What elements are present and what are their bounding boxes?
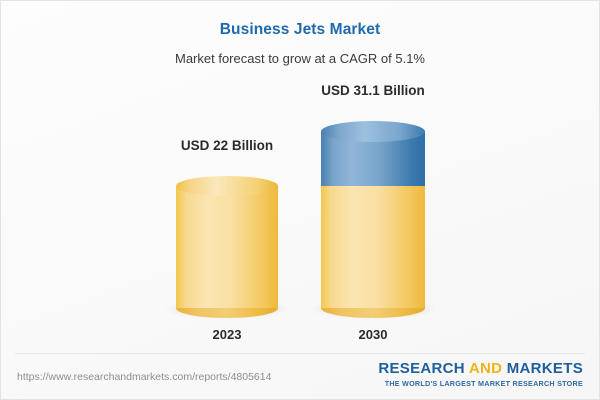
brand-logo-wordmark: RESEARCH AND MARKETS — [378, 360, 583, 377]
bar-segment-base-2030 — [321, 186, 425, 308]
bar-group-2030: USD 31.1 Billion 2030 — [321, 121, 425, 308]
cylinder-top-2030 — [321, 121, 425, 142]
chart-card: Business Jets Market Market forecast to … — [0, 0, 600, 400]
brand-logo-tagline: THE WORLD'S LARGEST MARKET RESEARCH STOR… — [378, 379, 583, 388]
cylinder-2030 — [321, 121, 425, 308]
source-url[interactable]: https://www.researchandmarkets.com/repor… — [17, 371, 271, 383]
bar-value-label-2030: USD 31.1 Billion — [273, 83, 473, 98]
brand-logo-word-markets: MARKETS — [507, 360, 583, 377]
bar-segment-base-2023 — [176, 186, 278, 308]
brand-logo-word-and-text: AND — [469, 360, 502, 377]
bar-group-2023: USD 22 Billion 2023 — [176, 176, 278, 308]
category-label-2030: 2030 — [273, 327, 473, 342]
plot-area: USD 22 Billion 2023 USD 31.1 Billion — [1, 1, 600, 353]
bar-value-label-2023: USD 22 Billion — [127, 138, 327, 153]
brand-logo[interactable]: RESEARCH AND MARKETS THE WORLD'S LARGEST… — [378, 360, 583, 388]
cylinder-top-2023 — [176, 176, 278, 196]
footer-divider — [15, 353, 585, 354]
cylinder-2023 — [176, 176, 278, 308]
brand-logo-word-research: RESEARCH — [378, 360, 465, 377]
